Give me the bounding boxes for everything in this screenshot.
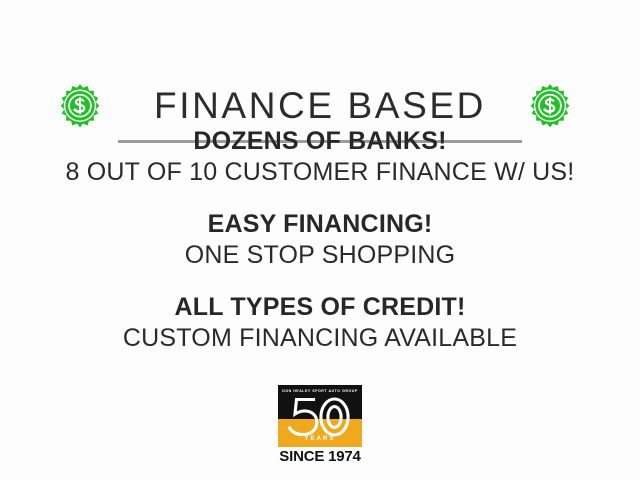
block-heading: ALL TYPES OF CREDIT!: [0, 292, 640, 323]
promo-slide: FINANCE BASED DOZENS OF BANKS! 8 OUT OF …: [0, 0, 640, 480]
logo-years-label: YEARS: [278, 435, 362, 443]
message-block: EASY FINANCING! ONE STOP SHOPPING: [0, 209, 640, 271]
block-subline: CUSTOM FINANCING AVAILABLE: [0, 323, 640, 354]
message-block: DOZENS OF BANKS! 8 OUT OF 10 CUSTOMER FI…: [0, 126, 640, 188]
message-block: ALL TYPES OF CREDIT! CUSTOM FINANCING AV…: [0, 292, 640, 354]
block-subline: 8 OUT OF 10 CUSTOMER FINANCE W/ US!: [0, 157, 640, 188]
block-subline: ONE STOP SHOPPING: [0, 240, 640, 271]
block-heading: DOZENS OF BANKS!: [0, 126, 640, 157]
logo-badge: DON HEALEY SPORT AUTO GROUP YEARS: [278, 385, 362, 447]
slide-header: FINANCE BASED: [0, 36, 640, 116]
gear-dollar-icon: [57, 83, 103, 129]
block-heading: EASY FINANCING!: [0, 209, 640, 240]
logo-fifty-numeral: [278, 392, 362, 440]
message-blocks: DOZENS OF BANKS! 8 OUT OF 10 CUSTOMER FI…: [0, 126, 640, 354]
logo-since-text: SINCE 1974: [273, 447, 367, 466]
dealer-logo: DON HEALEY SPORT AUTO GROUP YEARS SINCE …: [273, 385, 367, 471]
gear-dollar-icon: [527, 83, 573, 129]
page-title: FINANCE BASED: [110, 84, 530, 128]
